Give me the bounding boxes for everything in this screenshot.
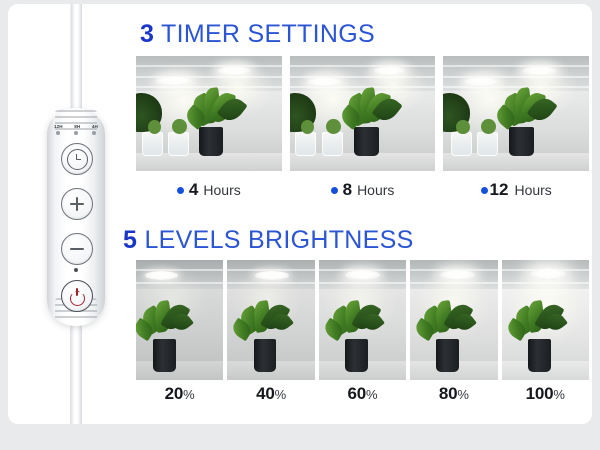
bullet-icon [481, 187, 488, 194]
timer-photo-row [136, 56, 589, 171]
timer-section-heading: 3 TIMER SETTINGS [140, 20, 375, 49]
product-info-card: 12H 8H 4H [8, 4, 592, 424]
timer-indicator-leds [56, 131, 96, 135]
brightness-photo-40 [227, 260, 314, 380]
brightness-unit-60: % [366, 387, 378, 402]
brightness-photo-80 [410, 260, 497, 380]
timer-unit-12: Hours [514, 182, 551, 198]
led-4h [92, 131, 96, 135]
timer-value-12: 12 [490, 180, 509, 200]
content-column: 3 TIMER SETTINGS [128, 4, 592, 424]
power-cable-lower [70, 322, 82, 424]
timer-value-8: 8 [343, 180, 352, 200]
status-led [74, 268, 78, 272]
brightness-photo-100 [502, 260, 589, 380]
timer-label-4h: 4H [92, 124, 98, 129]
brightness-heading-number: 5 [123, 226, 137, 254]
brightness-value-80: 80 [439, 384, 458, 404]
brightness-caption-60: 60% [319, 384, 406, 408]
brightness-unit-80: % [457, 387, 469, 402]
timer-heading-number: 3 [140, 20, 154, 48]
timer-caption-8h: 8 Hours [290, 178, 436, 202]
brightness-heading-text: LEVELS BRIGHTNESS [137, 226, 413, 254]
brightness-caption-20: 20% [136, 384, 223, 408]
product-image-column: 12H 8H 4H [8, 4, 128, 424]
brightness-caption-80: 80% [410, 384, 497, 408]
plus-icon [70, 197, 84, 211]
timer-caption-row: 4 Hours 8 Hours 12 Hours [136, 178, 589, 202]
brightness-unit-40: % [275, 387, 287, 402]
timer-value-4: 4 [189, 180, 198, 200]
clock-icon [67, 149, 88, 170]
timer-unit-4: Hours [203, 182, 240, 198]
brightness-down-button[interactable] [61, 233, 93, 265]
brightness-value-20: 20 [165, 384, 184, 404]
power-button[interactable] [61, 280, 93, 312]
power-cable-upper [71, 4, 82, 122]
brightness-caption-40: 40% [227, 384, 314, 408]
bullet-icon [331, 187, 338, 194]
brightness-value-60: 60 [347, 384, 366, 404]
power-icon [69, 288, 85, 304]
timer-photo-4h [136, 56, 282, 171]
brightness-value-100: 100 [526, 384, 554, 404]
timer-button[interactable] [61, 143, 93, 175]
led-12h [56, 131, 60, 135]
timer-photo-8h [290, 56, 436, 171]
brightness-value-40: 40 [256, 384, 275, 404]
timer-label-8h: 8H [74, 124, 80, 129]
brightness-caption-row: 20% 40% 60% 80% 100% [136, 384, 589, 408]
brightness-caption-100: 100% [502, 384, 589, 408]
brightness-unit-20: % [183, 387, 195, 402]
brightness-section-heading: 5 LEVELS BRIGHTNESS [123, 226, 414, 255]
minus-icon [70, 242, 84, 256]
timer-photo-12h [443, 56, 589, 171]
timer-caption-4h: 4 Hours [136, 178, 282, 202]
timer-unit-8: Hours [357, 182, 394, 198]
timer-caption-12h: 12 Hours [443, 178, 589, 202]
bullet-icon [177, 187, 184, 194]
timer-label-12h: 12H [54, 124, 63, 129]
brightness-photo-20 [136, 260, 223, 380]
brightness-photo-60 [319, 260, 406, 380]
led-8h [74, 131, 78, 135]
inline-timer-controller[interactable]: 12H 8H 4H [47, 108, 105, 326]
timer-heading-text: TIMER SETTINGS [154, 20, 375, 48]
timer-indicator-labels: 12H 8H 4H [54, 124, 98, 129]
brightness-unit-100: % [553, 387, 565, 402]
brightness-photo-row [136, 260, 589, 380]
brightness-up-button[interactable] [61, 188, 93, 220]
